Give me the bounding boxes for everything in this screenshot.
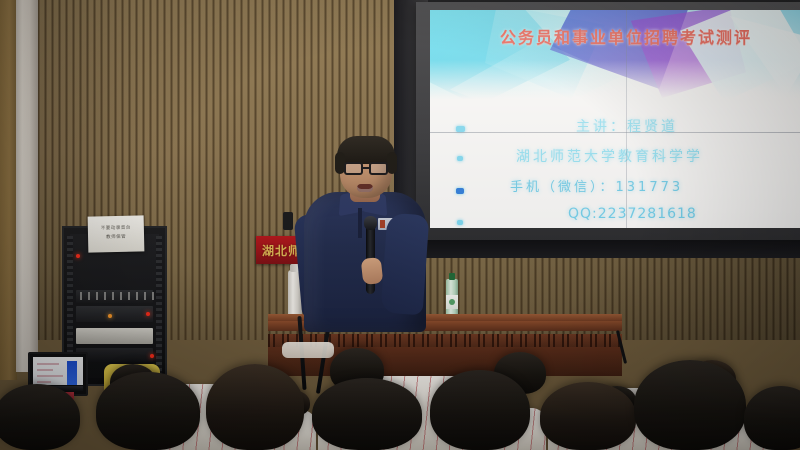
status-led: [146, 312, 150, 316]
audience-head: [96, 372, 200, 450]
audience-head: [0, 384, 80, 450]
water-bottle: [446, 279, 458, 317]
rack-sign-line2: 教师保管: [88, 232, 144, 242]
glasses-icon: [369, 162, 388, 175]
rack-notice-sign: 不要动录音台 教师保管: [88, 215, 145, 252]
slide-title: 公务员和事业单位招聘考试测评: [500, 24, 800, 48]
bullet-icon: [456, 188, 464, 194]
slide-phone-line: 手机（微信）：131773: [510, 176, 800, 195]
screen-shadow-bar: [394, 240, 800, 258]
wall-edge-trim: [0, 0, 17, 380]
slide-affiliation-line: 湖北师范大学教育科学学: [516, 146, 800, 166]
glasses-icon: [344, 162, 363, 175]
rack-knob-row: [80, 292, 154, 300]
audience-head: [430, 370, 530, 450]
white-pillar: [16, 0, 38, 372]
projector-screen-frame: 公务员和事业单位招聘考试测评 主讲：程贤道 湖北师范大学教育科学学 手机（微信）…: [416, 2, 800, 240]
status-led: [108, 314, 112, 318]
projected-slide: 公务员和事业单位招聘考试测评 主讲：程贤道 湖北师范大学教育科学学 手机（微信）…: [430, 10, 800, 228]
screen-seam-horizontal: [430, 132, 800, 133]
presenter-hand: [361, 257, 384, 285]
wall-speaker-box: [283, 212, 293, 230]
bullet-icon: [457, 220, 463, 225]
audience-head: [206, 364, 304, 450]
audience: [0, 330, 800, 450]
audience-head: [744, 386, 800, 450]
audience-head: [312, 378, 422, 450]
status-led: [76, 254, 80, 258]
presenter-mouth: [357, 184, 373, 192]
rack-unit: [76, 306, 153, 322]
audience-head: [634, 360, 746, 450]
audience-head: [540, 382, 636, 450]
presenter: [300, 140, 430, 330]
bullet-icon: [457, 156, 463, 161]
lecture-hall-photo: 公务员和事业单位招聘考试测评 主讲：程贤道 湖北师范大学教育科学学 手机（微信）…: [0, 0, 800, 450]
slide-presenter-line: 主讲：程贤道: [576, 116, 800, 136]
screen-seam-vertical: [626, 10, 627, 228]
presenter-right-arm: [381, 213, 430, 316]
seat-back: [282, 342, 334, 358]
slide-qq-line: QQ:2237281618: [568, 206, 800, 222]
